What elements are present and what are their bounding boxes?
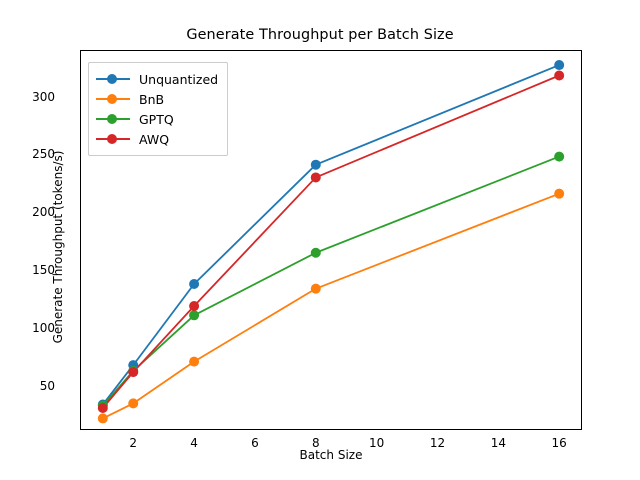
data-point-marker [554, 189, 564, 199]
data-point-marker [311, 160, 321, 170]
chart-title: Generate Throughput per Batch Size [0, 27, 640, 43]
x-tick-label: 16 [539, 437, 579, 449]
legend-item[interactable]: AWQ [96, 129, 218, 149]
chart-legend: UnquantizedBnBGPTQAWQ [88, 62, 228, 156]
x-tick-label: 14 [478, 437, 518, 449]
series-line [103, 157, 559, 406]
x-tick-label: 4 [174, 437, 214, 449]
legend-marker-icon [107, 134, 117, 144]
legend-label: Unquantized [139, 72, 218, 87]
y-tick-label: 300 [0, 91, 55, 103]
legend-swatch-icon [96, 132, 130, 146]
x-tick-label: 6 [235, 437, 275, 449]
legend-marker-icon [107, 114, 117, 124]
data-point-marker [311, 284, 321, 294]
data-point-marker [189, 357, 199, 367]
legend-label: AWQ [139, 132, 169, 147]
data-point-marker [98, 403, 108, 413]
legend-swatch-icon [96, 72, 130, 86]
series-line [103, 194, 559, 419]
legend-label: GPTQ [139, 112, 174, 127]
y-tick-label: 50 [0, 380, 55, 392]
legend-item[interactable]: Unquantized [96, 69, 218, 89]
y-tick-label: 100 [0, 322, 55, 334]
x-tick-label: 8 [296, 437, 336, 449]
data-point-marker [554, 70, 564, 80]
x-tick-label: 12 [417, 437, 457, 449]
chart-figure: Generate Throughput per Batch Size Batch… [0, 0, 640, 480]
data-point-marker [128, 398, 138, 408]
legend-label: BnB [139, 92, 164, 107]
y-tick-label: 200 [0, 206, 55, 218]
x-tick-label: 10 [357, 437, 397, 449]
legend-item[interactable]: BnB [96, 89, 218, 109]
legend-marker-icon [107, 74, 117, 84]
data-point-marker [98, 413, 108, 423]
data-point-marker [128, 367, 138, 377]
legend-item[interactable]: GPTQ [96, 109, 218, 129]
legend-swatch-icon [96, 112, 130, 126]
data-point-marker [311, 172, 321, 182]
legend-swatch-icon [96, 92, 130, 106]
data-point-marker [189, 301, 199, 311]
x-tick-label: 2 [113, 437, 153, 449]
data-point-marker [189, 279, 199, 289]
legend-marker-icon [107, 94, 117, 104]
data-point-marker [311, 248, 321, 258]
data-point-marker [554, 152, 564, 162]
y-tick-label: 250 [0, 148, 55, 160]
x-axis-label: Batch Size [80, 448, 582, 462]
y-tick-label: 150 [0, 264, 55, 276]
data-point-marker [554, 60, 564, 70]
data-point-marker [189, 310, 199, 320]
